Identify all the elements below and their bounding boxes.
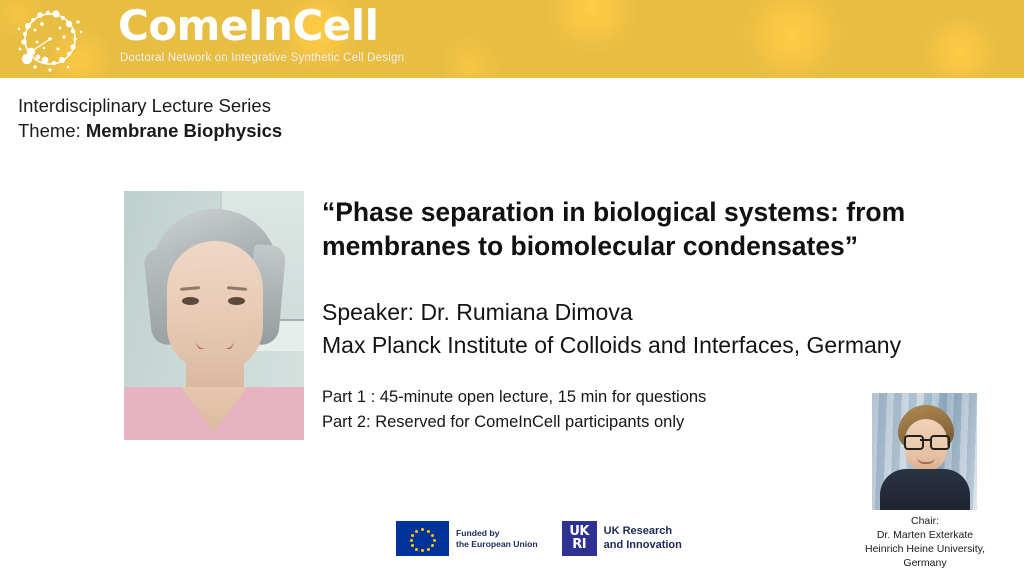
lecture-part-2: Part 2: Reserved for ComeInCell particip… xyxy=(322,410,882,435)
cell-ring-logo-icon xyxy=(14,4,86,74)
eu-funding-text: Funded by the European Union xyxy=(456,528,538,550)
series-title-line: Interdisciplinary Lecture Series xyxy=(18,94,282,119)
speaker-eye-right xyxy=(228,297,245,305)
chair-role-label: Chair: xyxy=(845,514,1005,528)
ukri-logo-icon: UK RI xyxy=(562,521,597,556)
lecture-parts-info: Part 1 : 45-minute open lecture, 15 min … xyxy=(322,385,882,435)
brand-tagline: Doctoral Network on Integrative Syntheti… xyxy=(120,52,404,64)
funder-logos: Funded by the European Union UK RI UK Re… xyxy=(396,521,682,556)
ukri-funding-line-1: UK Research xyxy=(604,525,682,539)
chair-glasses-left-lens xyxy=(904,435,924,450)
theme-value: Membrane Biophysics xyxy=(86,120,282,141)
lecture-part-1: Part 1 : 45-minute open lecture, 15 min … xyxy=(322,385,882,410)
ukri-funding-logo: UK RI UK Research and Innovation xyxy=(562,521,682,556)
ukri-mark-bottom: RI xyxy=(572,539,586,551)
speaker-info: Speaker: Dr. Rumiana Dimova Max Planck I… xyxy=(322,296,1002,361)
chair-tshirt xyxy=(880,469,970,510)
eu-funding-line-2: the European Union xyxy=(456,539,538,550)
chair-affiliation: Heinrich Heine University, xyxy=(845,542,1005,556)
chair-caption: Chair: Dr. Marten Exterkate Heinrich Hei… xyxy=(845,514,1005,570)
chair-glasses-bridge xyxy=(920,439,930,441)
ukri-funding-text: UK Research and Innovation xyxy=(604,525,682,553)
brand-wordmark: ComeInCell xyxy=(118,4,379,48)
speaker-affiliation-line: Max Planck Institute of Colloids and Int… xyxy=(322,329,1002,362)
theme-label: Theme: xyxy=(18,120,86,141)
eu-funding-line-1: Funded by xyxy=(456,528,538,539)
speaker-eye-left xyxy=(182,297,199,305)
chair-portrait-photo xyxy=(872,393,977,510)
lecture-title: “Phase separation in biological systems:… xyxy=(322,196,992,264)
chair-name: Dr. Marten Exterkate xyxy=(845,528,1005,542)
chair-glasses-right-lens xyxy=(930,435,950,450)
speaker-portrait-photo xyxy=(124,191,304,440)
speaker-name-line: Speaker: Dr. Rumiana Dimova xyxy=(322,296,1002,329)
lecture-series-heading: Interdisciplinary Lecture Series Theme: … xyxy=(18,94,282,144)
chair-country: Germany xyxy=(845,556,1005,570)
series-theme-line: Theme: Membrane Biophysics xyxy=(18,119,282,144)
eu-funding-logo: Funded by the European Union xyxy=(396,521,538,556)
header-banner: ComeInCell Doctoral Network on Integrati… xyxy=(0,0,1024,78)
ukri-funding-line-2: and Innovation xyxy=(604,539,682,553)
eu-flag-icon xyxy=(396,521,449,556)
